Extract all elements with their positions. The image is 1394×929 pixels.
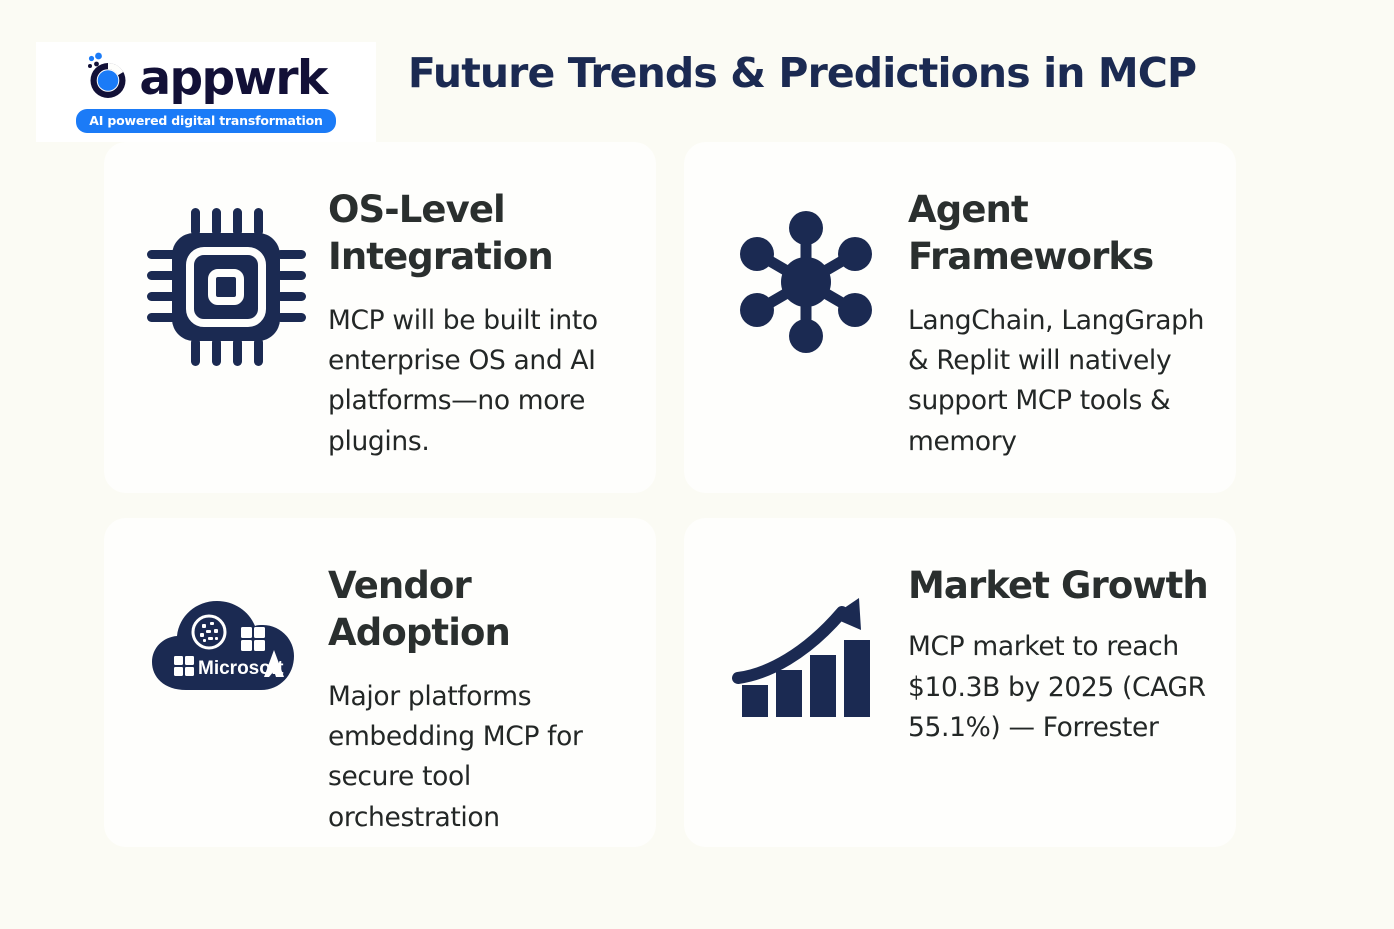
card-title: Market Growth	[908, 562, 1210, 609]
card-description: LangChain, LangGraph & Replit will nativ…	[908, 301, 1210, 462]
cpu-chip-icon	[146, 182, 306, 352]
card-body: OS-Level Integration MCP will be built i…	[328, 182, 630, 462]
brand-tagline: AI powered digital transformation	[76, 109, 335, 133]
page-title: Future Trends & Predictions in MCP	[402, 49, 1202, 97]
growth-chart-icon	[726, 558, 886, 728]
cloud-vendors-icon: Microsoft	[146, 558, 306, 728]
card-vendor-adoption: Microsoft Vendor Adoption Major platform…	[104, 518, 656, 847]
card-body: Agent Frameworks LangChain, LangGraph & …	[908, 182, 1210, 462]
brand-logo: appwrk AI powered digital transformation	[36, 42, 376, 142]
card-os-level-integration: OS-Level Integration MCP will be built i…	[104, 142, 656, 493]
card-description: MCP market to reach $10.3B by 2025 (CAGR…	[908, 627, 1210, 748]
card-body: Market Growth MCP market to reach $10.3B…	[908, 558, 1210, 748]
card-title: OS-Level Integration	[328, 186, 630, 281]
card-description: MCP will be built into enterprise OS and…	[328, 301, 630, 462]
cards-grid: OS-Level Integration MCP will be built i…	[104, 142, 1264, 872]
card-body: Vendor Adoption Major platforms embeddin…	[328, 558, 630, 838]
card-description: Major platforms embedding MCP for secure…	[328, 677, 630, 838]
card-title: Vendor Adoption	[328, 562, 630, 657]
card-market-growth: Market Growth MCP market to reach $10.3B…	[684, 518, 1236, 847]
card-agent-frameworks: Agent Frameworks LangChain, LangGraph & …	[684, 142, 1236, 493]
network-hub-icon	[726, 182, 886, 352]
page-header: appwrk AI powered digital transformation…	[0, 0, 1394, 142]
brand-name: appwrk	[139, 55, 326, 102]
card-title: Agent Frameworks	[908, 186, 1210, 281]
appwrk-circle-logo-icon	[79, 52, 137, 106]
brand-logo-row: appwrk	[79, 52, 326, 106]
